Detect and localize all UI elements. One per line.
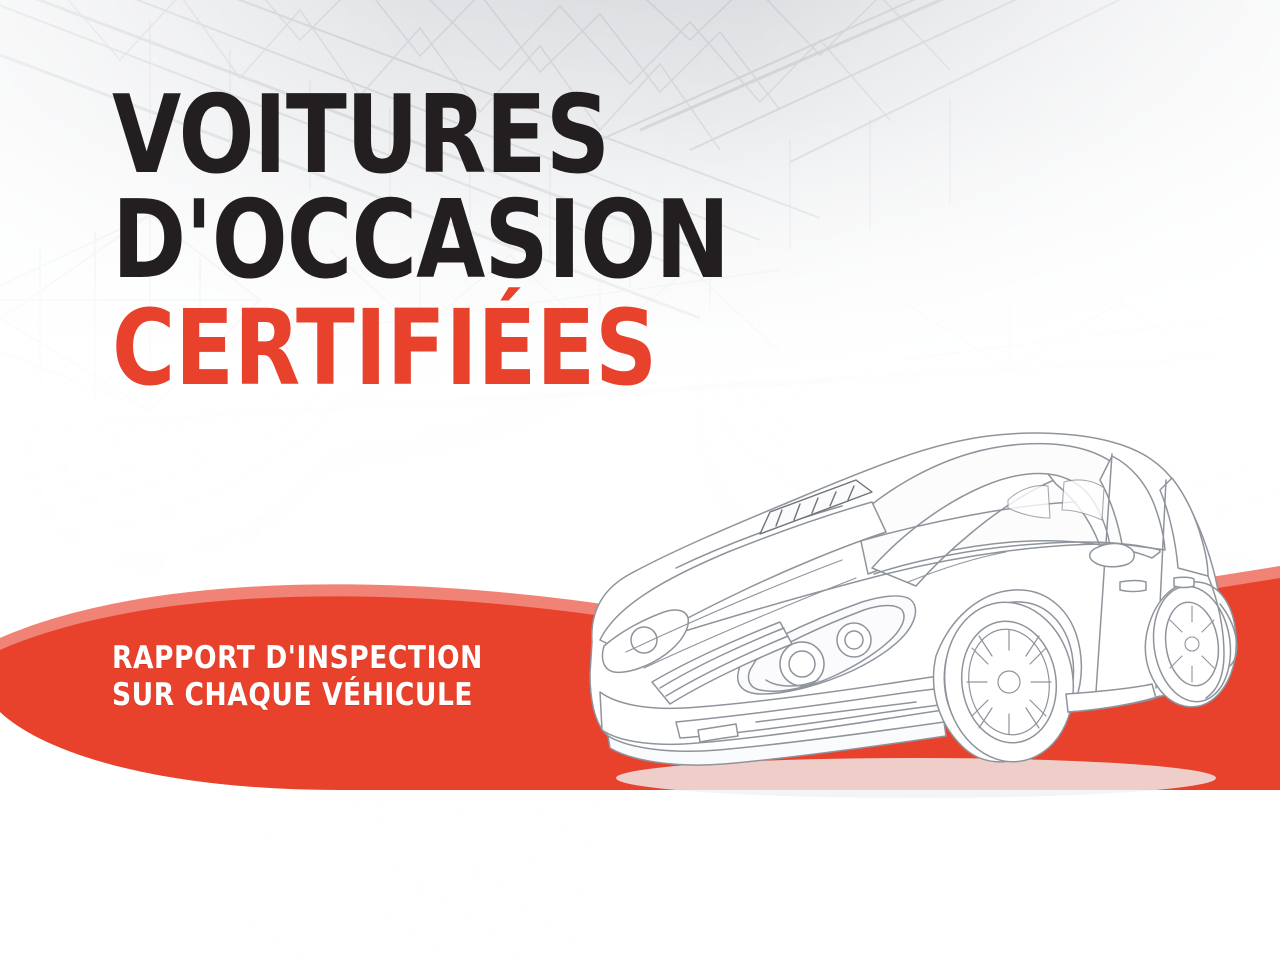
headline-line-3-certified: CERTIFIÉES [112, 301, 729, 397]
promotional-banner: VOITURES D'OCCASION CERTIFIÉES RAPPORT D… [0, 0, 1280, 960]
car-line-art-illustration [556, 392, 1280, 812]
headline-line-2: D'OCCASION [112, 191, 729, 290]
headline-line-1: VOITURES [112, 86, 729, 185]
inspection-report-text: RAPPORT D'INSPECTION SUR CHAQUE VÉHICULE [112, 640, 483, 714]
banner-line-2: SUR CHAQUE VÉHICULE [112, 677, 483, 714]
footer-bar: Bernières auto .com 488, rue de l'Aréna … [0, 780, 1280, 960]
banner-line-1: RAPPORT D'INSPECTION [112, 640, 483, 677]
headline-block: VOITURES D'OCCASION CERTIFIÉES [112, 86, 783, 396]
